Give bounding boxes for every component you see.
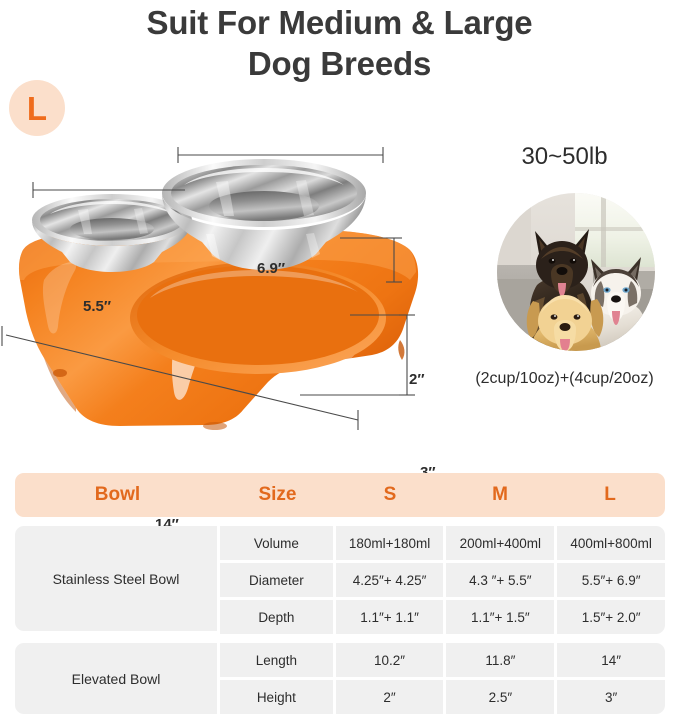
table-row: Depth 1.1″+ 1.1″ 1.1″+ 1.5″ 1.5″+ 2.0″ bbox=[220, 600, 665, 634]
row-label-volume: Volume bbox=[220, 526, 333, 560]
size-badge-label: L bbox=[27, 92, 47, 125]
specification-table: Bowl Size S M L Stainless Steel Bowl Vol… bbox=[15, 473, 665, 723]
capacity-label: (2cup/10oz)+(4cup/20oz) bbox=[450, 370, 679, 388]
row-label-length: Length bbox=[220, 643, 333, 677]
table-row: Length 10.2″ 11.8″ 14″ bbox=[220, 643, 665, 677]
page-title-line-2: Dog Breeds bbox=[0, 43, 679, 84]
size-badge: L bbox=[9, 80, 65, 136]
weight-range-label: 30~50lb bbox=[450, 143, 679, 171]
table-header-size: Size bbox=[220, 473, 335, 517]
page-title-line-1: Suit For Medium & Large bbox=[0, 2, 679, 43]
table-row: Height 2″ 2.5″ 3″ bbox=[220, 680, 665, 714]
three-dogs-photo bbox=[497, 193, 655, 351]
group-label-stainless-steel-bowl: Stainless Steel Bowl bbox=[15, 526, 217, 631]
cell-length-s: 10.2″ bbox=[336, 643, 444, 677]
cell-length-l: 14″ bbox=[557, 643, 665, 677]
cell-height-m: 2.5″ bbox=[446, 680, 554, 714]
cell-diameter-l: 5.5″+ 6.9″ bbox=[557, 563, 665, 597]
table-group-stainless-steel-bowl: Stainless Steel Bowl Volume 180ml+180ml … bbox=[15, 526, 665, 634]
table-row: Diameter 4.25″+ 4.25″ 4.3 ″+ 5.5″ 5.5″+ … bbox=[220, 563, 665, 597]
cell-volume-m: 200ml+400ml bbox=[446, 526, 554, 560]
dog-size-panel: 30~50lb bbox=[450, 130, 679, 430]
cell-volume-l: 400ml+800ml bbox=[557, 526, 665, 560]
table-row: Volume 180ml+180ml 200ml+400ml 400ml+800… bbox=[220, 526, 665, 560]
table-header-bowl: Bowl bbox=[15, 473, 220, 517]
cell-diameter-s: 4.25″+ 4.25″ bbox=[336, 563, 444, 597]
large-bowl-well bbox=[130, 262, 386, 374]
cell-height-s: 2″ bbox=[336, 680, 444, 714]
cell-depth-m: 1.1″+ 1.5″ bbox=[446, 600, 554, 634]
cell-length-m: 11.8″ bbox=[446, 643, 554, 677]
dimension-label-bowl-depth: 2″ bbox=[409, 371, 425, 388]
cell-diameter-m: 4.3 ″+ 5.5″ bbox=[446, 563, 554, 597]
product-illustration: 6.9″ 5.5″ 2″ 3″ 14″ bbox=[0, 130, 450, 435]
table-header-row: Bowl Size S M L bbox=[15, 473, 665, 517]
dimension-label-large-bowl-width: 6.9″ bbox=[257, 260, 285, 277]
row-label-height: Height bbox=[220, 680, 333, 714]
double-bowl-stand-drawing bbox=[0, 130, 450, 435]
dogs-photo-illustration bbox=[497, 193, 655, 351]
dimension-label-small-bowl-width: 5.5″ bbox=[83, 298, 111, 315]
cell-depth-s: 1.1″+ 1.1″ bbox=[336, 600, 444, 634]
cell-depth-l: 1.5″+ 2.0″ bbox=[557, 600, 665, 634]
table-header-m: M bbox=[445, 473, 555, 517]
row-label-depth: Depth bbox=[220, 600, 333, 634]
cell-height-l: 3″ bbox=[557, 680, 665, 714]
row-label-diameter: Diameter bbox=[220, 563, 333, 597]
group-label-elevated-bowl: Elevated Bowl bbox=[15, 643, 217, 714]
table-group-elevated-bowl: Elevated Bowl Length 10.2″ 11.8″ 14″ Hei… bbox=[15, 643, 665, 714]
cell-volume-s: 180ml+180ml bbox=[336, 526, 444, 560]
table-header-l: L bbox=[555, 473, 665, 517]
table-header-s: S bbox=[335, 473, 445, 517]
golden-retriever bbox=[523, 295, 603, 351]
page-title: Suit For Medium & Large Dog Breeds bbox=[0, 2, 679, 84]
